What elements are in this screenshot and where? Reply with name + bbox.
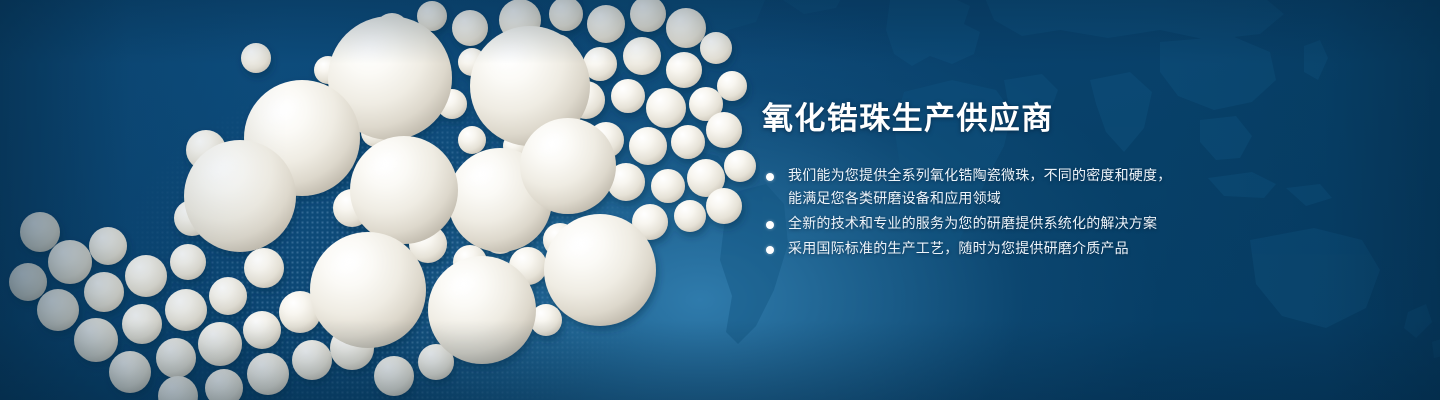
- bullet-text-line2: 能满足您各类研磨设备和应用领域: [788, 188, 1402, 211]
- bullet-dot-icon: [766, 221, 774, 229]
- banner-copy: 氧化锆珠生产供应商 我们能为您提供全系列氧化锆陶瓷微珠，不同的密度和硬度， 能满…: [762, 104, 1402, 263]
- bullet-item: 我们能为您提供全系列氧化锆陶瓷微珠，不同的密度和硬度， 能满足您各类研磨设备和应…: [762, 165, 1402, 211]
- bullet-dot-icon: [766, 246, 774, 254]
- bullet-text-line1: 采用国际标准的生产工艺，随时为您提供研磨介质产品: [788, 241, 1129, 257]
- bullet-text-line1: 全新的技术和专业的服务为您的研磨提供系统化的解决方案: [788, 216, 1157, 232]
- banner-bullet-list: 我们能为您提供全系列氧化锆陶瓷微珠，不同的密度和硬度， 能满足您各类研磨设备和应…: [762, 165, 1402, 261]
- bullet-item: 采用国际标准的生产工艺，随时为您提供研磨介质产品: [762, 238, 1402, 261]
- bullet-text-line1: 我们能为您提供全系列氧化锆陶瓷微珠，不同的密度和硬度，: [788, 168, 1171, 184]
- bullet-item: 全新的技术和专业的服务为您的研磨提供系统化的解决方案: [762, 213, 1402, 236]
- promo-banner: 氧化锆珠生产供应商 我们能为您提供全系列氧化锆陶瓷微珠，不同的密度和硬度， 能满…: [0, 0, 1440, 400]
- banner-headline: 氧化锆珠生产供应商: [762, 104, 1402, 135]
- bullet-dot-icon: [766, 173, 774, 181]
